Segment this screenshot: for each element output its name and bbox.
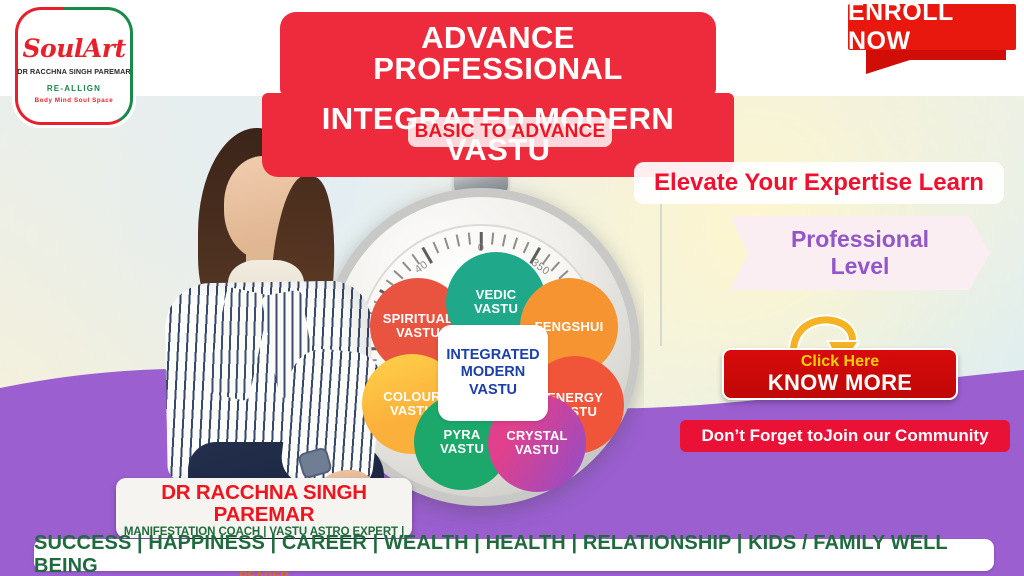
center-line-3: VASTU [446,382,539,399]
title-line-1: ADVANCE PROFESSIONAL [280,12,716,95]
banner-canvas: 03503303002502001501005040 SPIRITUALVAST… [0,0,1024,576]
community-banner[interactable]: Don’t Forget toJoin our Community [680,420,1010,452]
logo-brand: SoulArt [22,34,125,63]
professional-level-line-1: Professional [791,226,929,253]
enroll-now-button[interactable]: ENROLL NOW [848,4,1016,50]
enroll-now-label: ENROLL NOW [848,0,1016,56]
watch-tick [444,237,450,249]
vastu-circle-label: CRYSTAL [506,429,567,443]
basic-to-advance-label: BASIC TO ADVANCE [415,121,606,143]
enroll-ribbon-tail [866,50,1006,74]
vastu-circle-label: VEDIC [474,288,518,302]
watch-tick [502,234,506,246]
logo-owner-name: DR RACCHNA SINGH PAREMAR [17,67,130,76]
basic-to-advance-badge: BASIC TO ADVANCE [408,117,612,147]
professional-level-chevron: Professional Level [730,216,990,290]
center-line-1: INTEGRATED [446,347,539,364]
watch-tick [491,233,494,245]
integrated-modern-vastu-center: INTEGRATED MODERN VASTU [438,325,548,421]
elevate-expertise-banner: Elevate Your Expertise Learn [634,162,1004,204]
know-more-label: KNOW MORE [768,372,912,394]
know-more-button[interactable]: Click Here KNOW MORE [722,348,958,400]
community-label: Don’t Forget toJoin our Community [701,426,988,446]
logo-tagline: Body Mind Soul Space [35,97,114,104]
benefits-label: SUCCESS | HAPPINESS | CAREER | WEALTH | … [34,532,994,576]
soulart-logo[interactable]: SoulArt DR RACCHNA SINGH PAREMAR RE-ALLI… [12,4,136,128]
instructor-nameplate: DR RACCHNA SINGH PAREMAR MANIFESTATION C… [116,478,412,538]
elevate-label: Elevate Your Expertise Learn [654,169,984,197]
logo-realign: RE-ALLIGN [47,84,101,93]
vastu-circle-label: VASTU [474,302,518,316]
professional-level-line-2: Level [831,253,890,280]
vastu-circle-label: SPIRITUAL [383,312,453,326]
vastu-circle-cluster: SPIRITUALVASTUVEDICVASTUFENGSHUICOLOURVA… [362,250,624,492]
watch-tick [512,237,518,249]
vastu-circle-label: VASTU [440,442,484,456]
click-here-label: Click Here [801,354,879,370]
logo-ring [15,7,133,125]
instructor-name: DR RACCHNA SINGH PAREMAR [120,482,408,525]
center-line-2: MODERN [446,364,539,381]
watch-tick [456,234,460,246]
vastu-circle-label: PYRA [440,428,484,442]
vastu-circle-label: VASTU [506,443,567,457]
vastu-circle-label: COLOUR [383,390,441,404]
watch-tick [468,233,471,245]
main-title: ADVANCE PROFESSIONAL INTEGRATED MODERN V… [262,12,734,177]
benefits-bar: SUCCESS | HAPPINESS | CAREER | WEALTH | … [34,539,994,571]
